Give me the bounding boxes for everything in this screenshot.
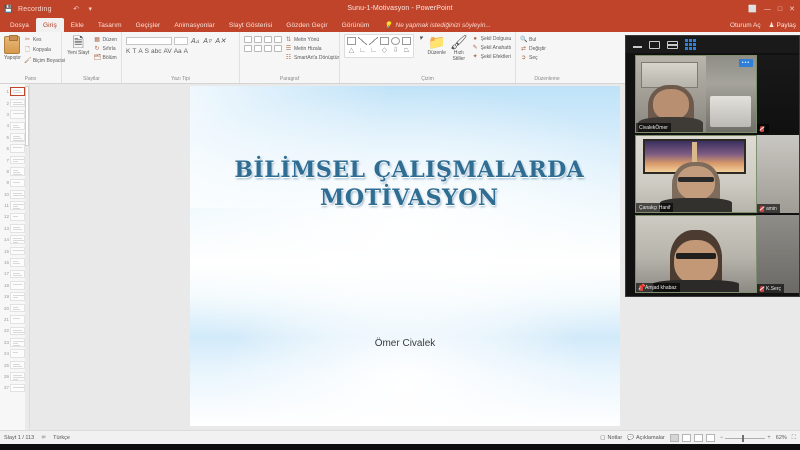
comment-icon: 💬 [627,435,634,441]
slide-thumbnail-number: 17 [2,271,9,276]
slide-thumbnail-number: 3 [2,112,9,117]
slide-thumbnail-preview[interactable] [10,87,25,96]
slide-thumbnail-preview[interactable] [10,304,25,313]
shapes-more-icon[interactable]: ▾ [418,34,424,42]
slide-thumbnail-preview[interactable] [10,349,25,358]
drawing-group-label: Çizim [344,76,511,83]
copy-button[interactable]: 🗋 Kopyala [24,45,65,55]
convert-smartart-button[interactable]: ☷ SmartArt'a Dönüştür [285,54,339,61]
editing-group-label: Düzenleme [520,76,574,83]
layout-button[interactable]: ▦ Düzen [94,36,117,43]
ribbon-group-clipboard: Yapıştır ✂ Kes 🗋 Kopyala 🖌 [0,32,62,83]
bold-button[interactable]: K [126,48,130,55]
convert-smartart-label: SmartArt'a Dönüştür [294,55,339,61]
slide-thumbnail-number: 13 [2,226,9,231]
slide-thumbnail-preview[interactable] [10,224,25,233]
decrease-indent-icon[interactable] [264,36,272,43]
arrange-label: Düzenle [428,50,446,56]
slide-thumbnail-number: 16 [2,260,9,265]
arrange-icon: 📁 [428,36,445,49]
slide-thumbnail-preview[interactable] [10,361,25,370]
slide-thumbnail-preview[interactable] [10,327,25,336]
sign-in-link[interactable]: Oturum Aç [730,22,761,29]
shape-fill-label: Şekil Dolgusu [481,36,512,42]
mic-muted-icon [760,206,764,212]
ribbon-display-options-icon[interactable]: ⬜ [748,6,757,13]
effects-icon: ✦ [472,53,479,60]
quick-styles-label: Hızlı Stiller [450,50,468,62]
zoom-thumb[interactable] [742,435,744,442]
slide-thumbnail-preview[interactable] [10,235,25,244]
smartart-icon: ☷ [285,54,292,61]
reset-label: Sıfırla [103,46,116,52]
window-controls[interactable]: ⬜ — □ ✕ [748,0,798,18]
align-left-icon[interactable] [244,45,252,52]
slide-thumbnail-number: 23 [2,340,9,345]
title-bar: 💾 Recording ↶ ▾ Sunu-1-Motivasyon - Powe… [0,0,800,18]
thumbnail-scrollbar-thumb[interactable] [25,86,29,146]
participant-name-bar: Çanakçı Hanif [636,203,673,212]
tab-ekle[interactable]: Ekle [64,18,91,32]
tell-me-search[interactable]: 💡 Ne yapmak istediğinizi söyleyin... [376,18,490,32]
video-tile-kserc[interactable]: K.Serç [757,215,799,293]
reset-button[interactable]: ↻ Sıfırla [94,45,117,52]
shape-triangle-icon[interactable]: △ [347,47,356,55]
ribbon-group-paragraph: ⇅ Metin Yönü ☰ Metin Hizala ☷ SmartArt'a… [240,32,340,83]
slide-thumbnail-number: 25 [2,363,9,368]
ribbon-group-font: A▵ A▿ A✕ K T A S abc AV Aa A Y [122,32,240,83]
slide-thumbnail-number: 27 [2,385,9,390]
video-tile-amin[interactable]: amin [757,135,799,213]
align-text-icon: ☰ [285,45,292,52]
search-icon: 🔍 [520,36,527,43]
new-slide-icon: 🗎 [73,36,84,49]
tab-animasyonlar[interactable]: Animasyonlar [167,18,222,32]
slide-thumbnail-number: 10 [2,192,9,197]
slide-thumbnail-preview[interactable] [10,122,25,131]
slide-thumbnail-preview[interactable] [10,372,25,381]
shape-effects-button[interactable]: ✦ Şekil Efektleri [472,53,512,60]
video-tile-civalekomer[interactable]: ••• CivalekÖmer [635,55,757,133]
ribbon-group-slides: 🗎 Yeni Slayt ▦ Düzen ↻ Sıfırla [62,32,122,83]
tab-gozden-gecir[interactable]: Gözden Geçir [279,18,334,32]
close-button[interactable]: ✕ [789,6,795,13]
share-button[interactable]: ♟ Paylaş [769,21,796,29]
mic-muted-icon [760,286,764,292]
slide-thumbnail-preview[interactable] [10,167,25,176]
participant-name-bar: CivalekÖmer [636,123,671,132]
find-button[interactable]: 🔍 Bul [520,36,546,43]
bullets-icon[interactable] [244,36,252,43]
minimize-button[interactable]: — [764,6,771,13]
section-icon: 🗂 [94,54,101,61]
font-group-label: Yazı Tipi [126,76,235,83]
webcam-feed [757,135,799,213]
pin-icon[interactable]: 📌 [638,284,645,291]
video-view-mode-toolbar[interactable] [626,36,799,53]
participant-name-bar: K.Serç [757,284,784,293]
video-conference-panel[interactable]: ••• CivalekÖmer Çanakçı Hanif [625,35,800,297]
copy-icon: 🗋 [24,45,31,55]
slide-thumbnail-preview[interactable] [10,247,25,256]
slide-thumbnail-number: 24 [2,351,9,356]
ribbon-group-editing: 🔍 Bul ⇄ Değiştir ➲ Seç Düzenleme [516,32,578,83]
replace-button[interactable]: ⇄ Değiştir [520,45,546,52]
slide-thumbnail-preview[interactable] [10,384,25,393]
shape-outline-label: Şekil Anahattı [481,45,512,51]
slide-canvas[interactable]: BİLİMSEL ÇALIŞMALARDA MOTİVASYON Ömer Ci… [190,86,620,426]
slide-thumbnail-preview[interactable] [10,156,25,165]
clear-formatting-icon[interactable]: A✕ [214,37,227,45]
webcam-feed [636,216,756,292]
tab-tasarim[interactable]: Tasarım [91,18,129,32]
cut-button[interactable]: ✂ Kes [24,36,65,43]
slide-thumbnail-preview[interactable] [10,179,25,188]
slide-thumbnail-number: 21 [2,317,9,322]
gallery-view-icon[interactable] [685,39,696,50]
webcam-feed [636,56,756,132]
mic-muted-icon [760,126,764,132]
shape-effects-label: Şekil Efektleri [481,54,511,60]
slide-thumbnail-panel[interactable]: 1234567891011121314151617181920212223242… [0,84,30,430]
status-bar: Slayt 1 / 113 ♾ Türkçe ▢ Notlar 💬 Açıkla… [0,430,800,444]
reading-view-button[interactable] [694,434,703,442]
font-name-input[interactable] [126,37,172,45]
slide-thumbnail-preview[interactable] [10,315,25,324]
shape-elbow-arrow-icon[interactable]: ∟ [369,47,378,55]
slide-thumbnail-preview[interactable] [10,144,25,153]
slide-thumbnail-number: 18 [2,283,9,288]
paste-label: Yapıştır [4,55,21,61]
slide-thumbnail-preview[interactable] [10,190,25,199]
tab-giris[interactable]: Giriş [36,18,64,32]
person-share-icon: ♟ [769,21,775,29]
tab-slayt-gosterisi[interactable]: Slayt Gösterisi [222,18,279,32]
slide-thumbnail-preview[interactable] [10,110,25,119]
strikethrough-button[interactable]: abc [151,48,161,55]
accessibility-checker[interactable]: ♾ [41,435,46,441]
zoom-in-button[interactable]: + [767,435,771,441]
align-center-icon[interactable] [254,45,262,52]
slide-thumbnail-preview[interactable] [10,133,25,142]
fill-bucket-icon: ● [472,36,479,42]
brush-icon: 🖌 [24,57,31,64]
zoom-track[interactable] [725,438,765,439]
increase-font-size-icon[interactable]: A▵ [190,37,200,45]
comments-button[interactable]: 💬 Açıklamalar [627,435,665,441]
view-buttons[interactable] [670,434,715,442]
slide-thumbnail-number: 20 [2,306,9,311]
shape-trapezoid-icon[interactable]: ⏢ [402,47,411,55]
align-text-label: Metin Hizala [294,46,322,52]
shape-down-arrow-icon[interactable]: ⇩ [391,47,400,55]
video-tile-amjad-khabaz[interactable]: Amjad khabaz 📌 [635,215,757,293]
replace-label: Değiştir [529,46,546,52]
tab-gorunum[interactable]: Görünüm [335,18,377,32]
slide-thumbnail-number: 11 [2,203,9,208]
slide-thumbnail-preview[interactable] [10,292,25,301]
paragraph-group-label: Paragraf [244,76,335,83]
new-slide-label: Yeni Slayt [67,50,89,56]
text-direction-icon: ⇅ [285,36,292,43]
arrange-button[interactable]: 📁 Düzenle [428,34,446,56]
slide-sorter-view-button[interactable] [682,434,691,442]
slide-thumbnail-number: 15 [2,249,9,254]
minimized-view-icon[interactable] [633,41,642,48]
slide-thumbnail-preview[interactable] [10,258,25,267]
ribbon-group-drawing: △ ∟ ∟ ◇ ⇩ ⏢ ▾ 📁 Düzenle 🖌 Hızlı Stil [340,32,516,83]
layout-icon: ▦ [94,36,101,43]
text-shadow-button[interactable]: S [145,48,149,55]
format-painter-label: Biçim Boyacisi [33,58,65,64]
slide-thumbnail-number: 26 [2,374,9,379]
section-button[interactable]: 🗂 Bölüm [94,54,117,61]
slideshow-view-button[interactable] [706,434,715,442]
notes-button[interactable]: ▢ Notlar [600,435,622,441]
zoom-slider[interactable]: − + [720,435,771,441]
participant-name: CivalekÖmer [639,125,668,131]
slide-counter[interactable]: Slayt 1 / 113 [4,435,34,441]
text-direction-button[interactable]: ⇅ Metin Yönü [285,36,339,43]
slide-thumbnail-preview[interactable] [10,281,25,290]
slide-thumbnail-preview[interactable] [10,270,25,279]
shape-elbow-connector-icon[interactable]: ∟ [358,47,367,55]
shape-fill-button[interactable]: ● Şekil Dolgusu [472,36,512,42]
video-tile-grid: ••• CivalekÖmer Çanakçı Hanif [626,53,799,297]
shape-oval-icon[interactable] [391,37,400,45]
tile-more-options-icon[interactable]: ••• [739,59,753,67]
numbering-icon[interactable] [254,36,262,43]
maximize-button[interactable]: □ [778,6,782,13]
slide-thumbnail-number: 12 [2,214,9,219]
share-label: Paylaş [776,22,796,29]
slide-thumbnail-number: 19 [2,294,9,299]
filmstrip-view-icon[interactable] [667,41,678,49]
lightbulb-icon: 💡 [384,21,392,29]
webcam-feed [757,215,799,293]
language-indicator[interactable]: Türkçe [53,435,70,441]
window-title: Sunu-1-Motivasyon - PowerPoint [0,0,800,18]
participant-name: Amjad khabaz [645,285,677,291]
zoom-level[interactable]: 62% [776,435,787,441]
speaker-view-icon[interactable] [649,41,660,49]
paste-icon [4,36,20,54]
participant-name: K.Serç [766,286,781,292]
align-right-icon[interactable] [264,45,272,52]
font-size-input[interactable] [174,37,188,45]
increase-indent-icon[interactable] [274,36,282,43]
taskbar [0,444,800,450]
tab-gecisler[interactable]: Geçişler [129,18,168,32]
notes-label: Notlar [607,435,622,441]
slide-thumbnail-number: 2 [2,101,9,106]
notes-icon: ▢ [600,435,605,441]
italic-button[interactable]: T [132,48,136,55]
shape-rounded-rect-icon[interactable] [402,37,411,45]
screen-root: 💾 Recording ↶ ▾ Sunu-1-Motivasyon - Powe… [0,0,800,450]
video-tile-side-1[interactable] [757,55,799,133]
shape-rect-icon[interactable] [347,37,356,45]
new-slide-button[interactable]: 🗎 Yeni Slayt [66,34,91,56]
underline-button[interactable]: A [138,48,142,55]
justify-icon[interactable] [274,45,282,52]
slide-thumbnail-number: 8 [2,169,9,174]
slide-thumbnail-number: 6 [2,146,9,151]
accessibility-icon: ♾ [41,435,46,441]
tab-dosya[interactable]: Dosya [3,18,36,32]
paste-button[interactable]: Yapıştır [4,34,21,61]
slide-thumbnail-number: 22 [2,328,9,333]
fit-slide-icon[interactable]: ⛶ [792,435,796,442]
format-painter-button[interactable]: 🖌 Biçim Boyacisi [24,57,65,64]
scissors-icon: ✂ [24,36,31,43]
participant-name: Çanakçı Hanif [639,205,670,211]
copy-label: Kopyala [33,47,51,53]
slide-thumbnail-number: 4 [2,123,9,128]
shape-diamond-icon[interactable]: ◇ [380,47,389,55]
shape-square-icon[interactable] [380,37,389,45]
slide-thumbnail-number: 14 [2,237,9,242]
find-label: Bul [529,37,536,43]
section-label: Bölüm [103,55,117,61]
slide-thumbnail-number: 5 [2,135,9,140]
slide-thumbnail-preview[interactable] [10,99,25,108]
shapes-gallery[interactable]: △ ∟ ∟ ◇ ⇩ ⏢ [344,34,414,58]
participant-name-bar: amin [757,204,780,213]
slide-thumbnail-preview[interactable] [10,338,25,347]
select-label: Seç [529,55,538,61]
reset-icon: ↻ [94,45,101,52]
zoom-out-button[interactable]: − [720,435,724,441]
text-direction-label: Metin Yönü [294,37,319,43]
quick-styles-icon: 🖌 [450,36,468,49]
select-cursor-icon: ➲ [520,54,527,61]
thumbnail-scrollbar[interactable] [25,84,29,430]
layout-label: Düzen [103,37,117,43]
slide-subtitle-placeholder[interactable]: Ömer Civalek [190,338,620,349]
comments-label: Açıklamalar [636,435,665,441]
slide-thumbnail-preview[interactable] [10,201,25,210]
ribbon-right-actions[interactable]: Oturum Aç ♟ Paylaş [730,18,796,32]
ribbon-tab-strip[interactable]: Dosya Giriş Ekle Tasarım Geçişler Animas… [0,18,800,32]
video-tile-canakci-hanif[interactable]: Çanakçı Hanif [635,135,757,213]
slide-title-placeholder[interactable]: BİLİMSEL ÇALIŞMALARDA MOTİVASYON [224,157,594,212]
normal-view-button[interactable] [670,434,679,442]
participant-name-bar [757,124,769,133]
quick-styles-button[interactable]: 🖌 Hızlı Stiller [450,34,468,62]
slide-thumbnail-number: 7 [2,158,9,163]
slide-thumbnail-number: 9 [2,180,9,185]
decrease-font-size-icon[interactable]: A▿ [202,37,212,45]
slide-thumbnail-number: 1 [2,89,9,94]
cut-label: Kes [33,37,42,43]
select-button[interactable]: ➲ Seç [520,54,546,61]
shape-line-icon[interactable] [358,37,367,45]
character-spacing-button[interactable]: AV [164,48,172,55]
slides-group-label: Slaytlar [66,76,117,83]
clipboard-group-label: Pano [4,76,57,83]
participant-name: amin [766,206,777,212]
tell-me-placeholder: Ne yapmak istediğinizi söyleyin... [396,22,491,29]
replace-icon: ⇄ [520,45,527,52]
change-case-button[interactable]: Aa [174,48,182,55]
font-color-button[interactable]: A [184,48,188,55]
webcam-feed [636,136,756,212]
align-text-button[interactable]: ☰ Metin Hizala [285,45,339,52]
outline-pen-icon: ✎ [472,44,479,51]
webcam-feed [757,55,799,133]
slide-thumbnail-preview[interactable] [10,213,25,222]
shape-arrow-icon[interactable] [369,37,378,45]
shape-outline-button[interactable]: ✎ Şekil Anahattı [472,44,512,51]
